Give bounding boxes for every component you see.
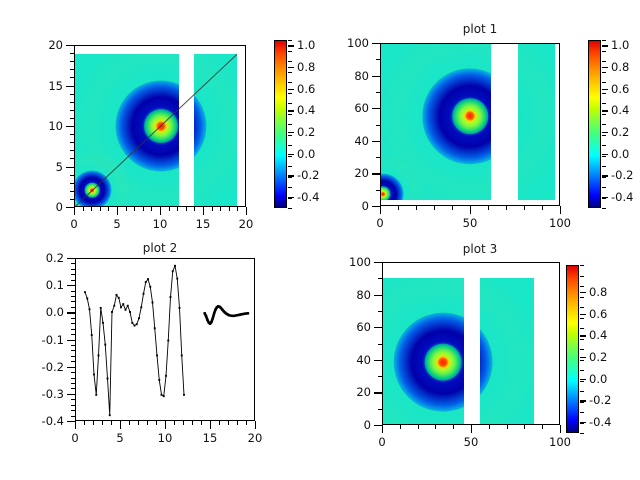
axis-minor-tick-y (71, 383, 75, 384)
data-point-marker (206, 319, 208, 321)
data-point-marker (152, 302, 154, 304)
panel-title-plot1: plot 1 (320, 22, 640, 36)
data-point-marker (239, 313, 241, 315)
axis-major-tick-x (165, 421, 166, 429)
heatmap-ring-inner (424, 344, 461, 381)
data-point-marker (122, 303, 124, 305)
axis-tick-label-y: 0 (362, 199, 369, 213)
axis-major-tick-y (372, 173, 380, 174)
colorbar-minor-tick (288, 103, 292, 104)
data-point-marker (156, 354, 158, 356)
axis-minor-tick-x (169, 207, 170, 211)
colorbar-tick (580, 314, 586, 315)
heatmap-block (194, 54, 237, 206)
axis-minor-tick-y (70, 150, 74, 151)
data-point-marker (145, 281, 147, 283)
axis-tick-label-y: 0 (364, 418, 371, 432)
heatmap-block (75, 54, 179, 206)
colorbar-minor-tick (288, 156, 292, 157)
axis-minor-tick-x (400, 425, 401, 429)
heatmap-ring-outer (381, 154, 423, 200)
axis-minor-tick-x (126, 207, 127, 211)
data-point-marker (161, 394, 163, 396)
colorbar-tick (602, 89, 608, 90)
axis-minor-tick-y (71, 291, 75, 292)
axis-tick-label-y: 20 (356, 385, 371, 399)
colorbar-minor-tick (288, 187, 292, 188)
colorbar-plot3 (566, 265, 579, 433)
data-point-marker (127, 305, 129, 307)
colorbar-minor-tick (602, 82, 606, 83)
axis-tick-label-y: 60 (354, 101, 369, 115)
axis-minor-tick-x (129, 421, 130, 425)
axis-minor-tick-x (434, 206, 435, 210)
colorbar-tick-label: 0.4 (589, 328, 607, 342)
colorbar-minor-tick (288, 82, 292, 83)
axis-tick-label-y: 40 (356, 353, 371, 367)
colorbar-tick (602, 110, 608, 111)
colorbar-minor-tick (580, 286, 584, 287)
axis-minor-tick-x (201, 421, 202, 425)
axis-major-tick-y (66, 86, 74, 87)
colorbar-minor-tick (602, 124, 606, 125)
axis-minor-tick-y (71, 356, 75, 357)
axis-minor-tick-y (71, 274, 75, 275)
colorbar-tick-label: 0.6 (589, 307, 607, 321)
heatmap-image-plot3 (383, 263, 559, 424)
axis-major-tick-y (67, 285, 75, 286)
axis-minor-tick-y (71, 334, 75, 335)
axis-minor-tick-x (542, 206, 543, 210)
colorbar-tick-label: -0.2 (297, 168, 319, 182)
heatmap-ring-inner (381, 186, 390, 200)
axis-major-tick-x (203, 207, 204, 215)
colorbar-minor-tick (602, 103, 606, 104)
colorbar-minor-tick (580, 391, 584, 392)
data-point-marker (210, 321, 212, 323)
axis-minor-tick-y (70, 183, 74, 184)
axis-major-tick-y (67, 312, 75, 313)
plot2-svg (76, 259, 255, 421)
axis-minor-tick-x (237, 207, 238, 211)
colorbar-tick-label: 0.2 (589, 350, 607, 364)
data-point-marker (176, 278, 178, 280)
axis-tick-label-x: 0 (376, 216, 383, 230)
axis-minor-tick-x (108, 207, 109, 211)
axis-tick-label-x: 100 (549, 216, 571, 230)
axis-minor-tick-y (71, 372, 75, 373)
axis-minor-tick-y (378, 376, 382, 377)
axis-minor-tick-x (398, 206, 399, 210)
axis-tick-label-x: 10 (158, 431, 173, 445)
heatmap-ring-blue (480, 313, 492, 412)
axis-tick-label-y: 80 (356, 288, 371, 302)
axis-minor-tick-y (70, 118, 74, 119)
heatmap-ring-outer (75, 54, 179, 206)
axis-minor-tick-x (174, 421, 175, 425)
axis-minor-tick-y (71, 350, 75, 351)
axis-minor-tick-y (71, 345, 75, 346)
data-point-marker (89, 308, 91, 310)
axis-major-tick-y (372, 206, 380, 207)
axis-minor-tick-x (489, 425, 490, 429)
data-point-marker (113, 305, 115, 307)
colorbar-minor-tick (580, 412, 584, 413)
panel-bottom-right: plot 3 050100020406080100 0.80.60.40.20.… (320, 240, 640, 480)
heatmap-ring-outer (518, 44, 555, 200)
axis-minor-tick-y (71, 296, 75, 297)
colorbar-minor-tick (580, 370, 584, 371)
colorbar-tick-label: 0.0 (297, 147, 315, 161)
colorbar-tick-label: 0.0 (589, 372, 607, 386)
colorbar-tick (288, 132, 294, 133)
axis-minor-tick-y (70, 199, 74, 200)
axis-minor-tick-x (93, 421, 94, 425)
axis-minor-tick-y (71, 323, 75, 324)
colorbar-minor-tick (288, 40, 292, 41)
axis-minor-tick-x (156, 421, 157, 425)
heatmap-peak-core (462, 109, 478, 125)
data-point-marker (120, 306, 122, 308)
axis-major-tick-y (67, 394, 75, 395)
colorbar-minor-tick (580, 402, 584, 403)
axis-minor-tick-x (542, 425, 543, 429)
axis-tick-label-x: 20 (248, 431, 263, 445)
data-point-marker (143, 293, 145, 295)
data-point-marker (118, 297, 120, 299)
axis-minor-tick-y (71, 263, 75, 264)
axis-minor-tick-x (228, 421, 229, 425)
axis-minor-tick-y (378, 311, 382, 312)
heatmap-ring-blue (194, 80, 206, 171)
axis-major-tick-y (66, 126, 74, 127)
data-point-marker (183, 394, 185, 396)
colorbar-minor-tick (602, 40, 606, 41)
data-point-marker (231, 315, 233, 317)
axis-minor-tick-x (183, 421, 184, 425)
axis-minor-tick-y (70, 53, 74, 54)
axis-major-tick-x (470, 206, 471, 214)
axis-tick-label-y: 5 (56, 160, 63, 174)
data-point-marker (107, 378, 109, 380)
axis-major-tick-y (66, 45, 74, 46)
data-point-marker (170, 296, 172, 298)
data-point-marker (136, 323, 138, 325)
axis-major-tick-x (120, 421, 121, 429)
heatmap-block (518, 44, 555, 200)
data-point-marker (233, 315, 235, 317)
data-point-marker (241, 313, 243, 315)
data-point-marker (98, 354, 100, 356)
colorbar-minor-tick (288, 145, 292, 146)
colorbar-minor-tick (602, 114, 606, 115)
axis-minor-tick-x (212, 207, 213, 211)
colorbar-tick-label: -0.4 (611, 190, 633, 204)
axis-major-tick-x (560, 425, 561, 433)
data-point-marker (244, 312, 246, 314)
heatmap-block (383, 278, 464, 424)
axis-minor-tick-y (378, 344, 382, 345)
axis-minor-tick-y (70, 158, 74, 159)
heatmap-ring-outer (480, 278, 535, 424)
colorbar-minor-tick (602, 51, 606, 52)
axis-major-tick-x (246, 207, 247, 215)
data-point-marker (167, 340, 169, 342)
axis-tick-label-x: 15 (203, 431, 218, 445)
colorbar-minor-tick (602, 177, 606, 178)
colorbar-minor-tick (288, 93, 292, 94)
axis-minor-tick-x (219, 421, 220, 425)
axis-minor-tick-x (194, 207, 195, 211)
axis-tick-label-x: 5 (113, 217, 120, 231)
axis-major-tick-y (66, 207, 74, 208)
axis-tick-label-y: 20 (48, 38, 63, 52)
axis-minor-tick-x (84, 421, 85, 425)
data-point-marker (84, 291, 86, 293)
axis-tick-label-x: 0 (71, 431, 78, 445)
data-point-marker (149, 286, 151, 288)
data-point-marker (213, 312, 215, 314)
axis-minor-tick-x (524, 425, 525, 429)
axis-minor-tick-y (71, 405, 75, 406)
axis-minor-tick-y (71, 269, 75, 270)
data-point-marker (125, 309, 127, 311)
axis-tick-label-x: 5 (116, 431, 123, 445)
colorbar-tick (580, 292, 586, 293)
axis-tick-label-x: 0 (378, 435, 385, 449)
colorbar-minor-tick (288, 51, 292, 52)
data-point-marker (214, 308, 216, 310)
heatmap-ring-blue (393, 313, 463, 412)
axis-minor-tick-y (71, 307, 75, 308)
axis-minor-tick-y (71, 410, 75, 411)
heatmap-ring-outer (194, 54, 237, 206)
colorbar-minor-tick (580, 276, 584, 277)
axis-tick-label-y: 0.1 (46, 278, 64, 292)
data-point-marker (131, 322, 133, 324)
axis-minor-tick-x (506, 206, 507, 210)
axis-tick-label-y: 0 (56, 200, 63, 214)
axis-minor-tick-x (416, 206, 417, 210)
colorbar-tick (288, 67, 294, 68)
axis-minor-tick-x (91, 207, 92, 211)
data-point-marker (228, 314, 230, 316)
axis-minor-tick-y (71, 280, 75, 281)
axis-major-tick-y (372, 76, 380, 77)
colorbar-tick-label: -0.4 (589, 415, 611, 429)
data-point-marker (163, 395, 165, 397)
axis-minor-tick-x (151, 207, 152, 211)
data-point-marker (247, 312, 249, 314)
axis-minor-tick-x (229, 207, 230, 211)
axis-tick-label-y: 40 (354, 134, 369, 148)
data-point-marker (154, 327, 156, 329)
colorbar-tick-label: 0.6 (611, 82, 629, 96)
axis-minor-tick-x (435, 425, 436, 429)
axis-minor-tick-y (70, 134, 74, 135)
colorbar-tick-label: 0.8 (297, 60, 315, 74)
axis-minor-tick-y (378, 278, 382, 279)
colorbar-minor-tick (580, 423, 584, 424)
axis-tick-label-y: -0.1 (42, 333, 64, 347)
colorbar-tick-label: 0.6 (297, 82, 315, 96)
colorbar-minor-tick (288, 166, 292, 167)
data-point-marker (179, 307, 181, 309)
axis-major-tick-x (75, 421, 76, 429)
data-point-marker (100, 307, 102, 309)
axis-minor-tick-x (186, 207, 187, 211)
axis-major-tick-x (471, 425, 472, 433)
axis-major-tick-y (372, 141, 380, 142)
axis-minor-tick-x (524, 206, 525, 210)
colorbar-minor-tick (602, 93, 606, 94)
axis-minor-tick-y (71, 329, 75, 330)
data-point-marker (172, 270, 174, 272)
colorbar-tick (288, 89, 294, 90)
colorbar-minor-tick (602, 145, 606, 146)
axis-major-tick-y (67, 340, 75, 341)
colorbar-tick (580, 335, 586, 336)
axis-tick-label-y: 0.2 (46, 251, 64, 265)
colorbar-minor-tick (580, 307, 584, 308)
axes-plot2[interactable] (75, 258, 255, 421)
axis-tick-label-y: 60 (356, 320, 371, 334)
colorbar-tick (602, 132, 608, 133)
panel-top-right: plot 1 050100020406080100 1.00.80.60.40.… (320, 0, 640, 240)
colorbar-minor-tick (580, 318, 584, 319)
colorbar-tick-label: 1.0 (297, 38, 315, 52)
colorbar-minor-tick (288, 177, 292, 178)
colorbar-minor-tick (288, 124, 292, 125)
data-point-marker (212, 317, 214, 319)
colorbar-minor-tick (580, 328, 584, 329)
heatmap-peak-core (435, 354, 451, 370)
axis-minor-tick-y (70, 110, 74, 111)
colorbar-minor-tick (580, 433, 584, 434)
heatmap-block (381, 44, 491, 200)
axis-minor-tick-y (376, 92, 380, 93)
axis-minor-tick-y (70, 175, 74, 176)
axis-major-tick-x (210, 421, 211, 429)
axis-major-tick-y (67, 367, 75, 368)
axis-major-tick-x (74, 207, 75, 215)
colorbar-tick-label: 0.2 (297, 125, 315, 139)
axis-tick-label-y: 80 (354, 69, 369, 83)
colorbar-tick-label: 0.4 (611, 103, 629, 117)
axis-minor-tick-x (237, 421, 238, 425)
axis-tick-label-y: -0.3 (42, 387, 64, 401)
axis-major-tick-x (255, 421, 256, 429)
axis-minor-tick-x (453, 425, 454, 429)
colorbar-top-left (274, 40, 287, 208)
heatmap-ring-inner (452, 99, 488, 135)
axis-tick-label-y: 20 (354, 166, 369, 180)
axis-minor-tick-y (71, 301, 75, 302)
data-point-marker (174, 265, 176, 267)
line-series-plot2 (76, 259, 254, 420)
colorbar-tick (602, 67, 608, 68)
data-point-marker (86, 297, 88, 299)
axis-tick-label-x: 0 (70, 217, 77, 231)
colorbar-minor-tick (602, 198, 606, 199)
axis-tick-label-x: 50 (464, 435, 479, 449)
axis-minor-tick-y (376, 125, 380, 126)
axis-tick-label-x: 20 (239, 217, 254, 231)
axis-minor-tick-x (138, 421, 139, 425)
axis-minor-tick-y (376, 157, 380, 158)
heatmap-ring-outer (383, 278, 464, 424)
colorbar-minor-tick (580, 381, 584, 382)
data-point-marker (109, 414, 111, 416)
axis-major-tick-y (66, 167, 74, 168)
axis-major-tick-y (372, 108, 380, 109)
axis-tick-label-x: 50 (463, 216, 478, 230)
colorbar-minor-tick (288, 72, 292, 73)
data-point-marker (102, 322, 104, 324)
axis-tick-label-y: 100 (347, 36, 369, 50)
axis-major-tick-x (560, 206, 561, 214)
axis-minor-tick-x (488, 206, 489, 210)
axis-minor-tick-y (70, 61, 74, 62)
axis-major-tick-x (380, 206, 381, 214)
heatmap-ring-blue (381, 173, 403, 200)
colorbar-minor-tick (288, 208, 292, 209)
axis-minor-tick-y (70, 142, 74, 143)
axis-major-tick-y (374, 295, 382, 296)
colorbar-tick-label: 0.8 (611, 60, 629, 74)
colorbar-tick (288, 45, 294, 46)
data-point-marker (129, 311, 131, 313)
axes-plot1[interactable] (380, 43, 560, 206)
axis-major-tick-y (374, 262, 382, 263)
axis-minor-tick-y (70, 102, 74, 103)
data-point-marker (236, 314, 238, 316)
colorbar-minor-tick (602, 208, 606, 209)
axis-minor-tick-x (192, 421, 193, 425)
axis-major-tick-y (372, 43, 380, 44)
axis-minor-tick-y (71, 378, 75, 379)
axis-minor-tick-y (70, 94, 74, 95)
heatmap-ring-outer (381, 44, 491, 200)
panel-bottom-left: plot 2 051015200.20.10.0-0.1-0.2-0.3-0.4 (0, 240, 320, 480)
data-point-marker (181, 354, 183, 356)
heatmap-image-plot1 (381, 44, 559, 205)
axes-plot3[interactable] (382, 262, 560, 425)
colorbar-minor-tick (288, 198, 292, 199)
data-point-marker (204, 312, 206, 314)
axis-tick-label-y: 0.0 (46, 305, 64, 319)
colorbar-plot1 (588, 40, 601, 208)
colorbar-tick-label: 0.0 (611, 147, 629, 161)
axis-minor-tick-y (71, 361, 75, 362)
axis-minor-tick-x (418, 425, 419, 429)
axis-tick-label-y: -0.4 (42, 414, 64, 428)
data-point-marker (165, 375, 167, 377)
axis-tick-label-x: 10 (153, 217, 168, 231)
axes-top-left[interactable] (74, 45, 246, 207)
axis-tick-label-y: -0.2 (42, 360, 64, 374)
colorbar-tick-label: 0.2 (611, 125, 629, 139)
axis-minor-tick-x (177, 207, 178, 211)
axis-major-tick-x (160, 207, 161, 215)
heatmap-ring-blue (422, 69, 491, 164)
colorbar-tick (288, 110, 294, 111)
data-point-marker (140, 306, 142, 308)
panel-title-plot3: plot 3 (320, 242, 640, 256)
axis-major-tick-x (117, 207, 118, 215)
colorbar-tick (602, 45, 608, 46)
colorbar-minor-tick (580, 349, 584, 350)
